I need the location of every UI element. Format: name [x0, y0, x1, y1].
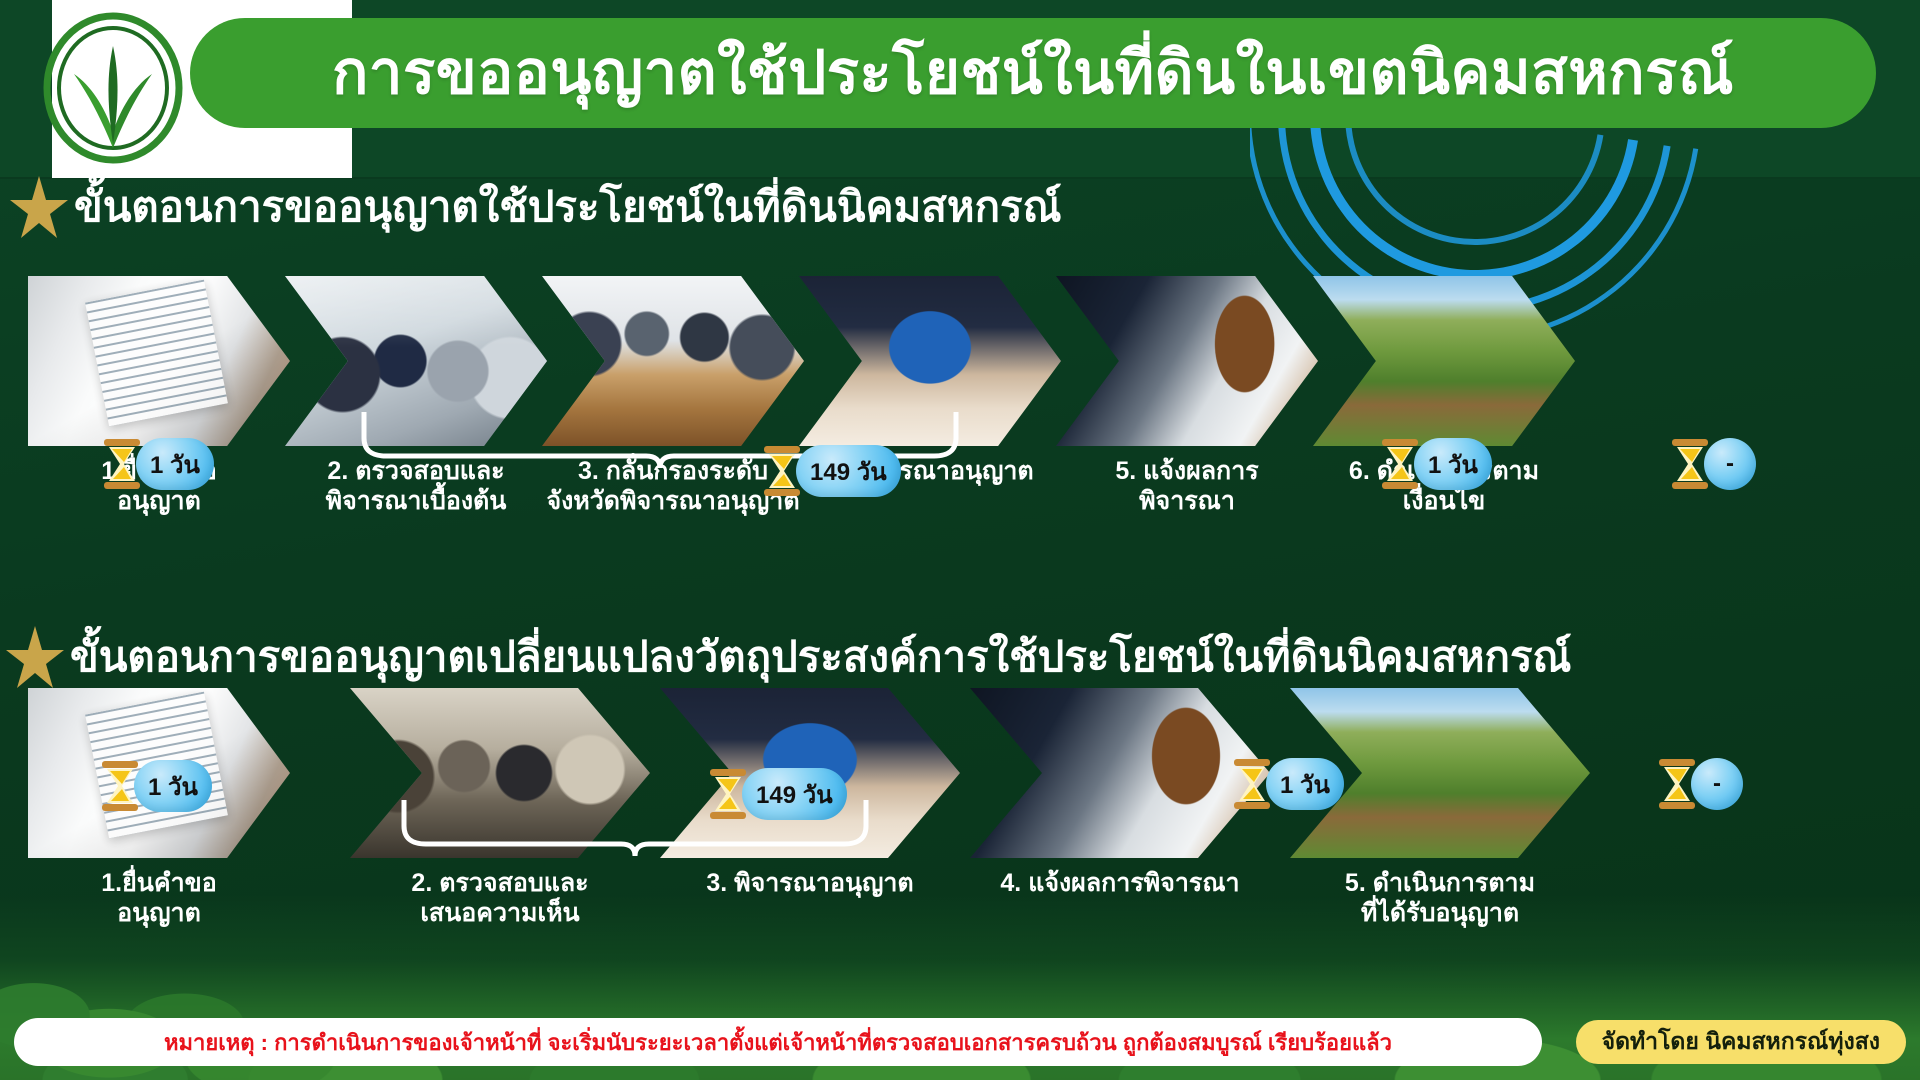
- step-photo: [350, 688, 650, 858]
- step-label: 2. ตรวจสอบและ พิจารณาเบื้องต้น: [285, 456, 547, 516]
- section-2-steps-row: 1.ยื่นคำขอ อนุญาต 2. ตรวจสอบและ เสนอความ…: [0, 688, 1920, 938]
- time-badge-value: -: [1691, 758, 1743, 810]
- page-title: การขออนุญาตใช้ประโยชน์ในที่ดินในเขตนิคมส…: [332, 43, 1734, 103]
- section-1-heading-group: ขั้นตอนการขออนุญาตใช้ประโยชน์ในที่ดินนิค…: [10, 176, 1062, 238]
- section-2-heading: ขั้นตอนการขออนุญาตเปลี่ยนแปลงวัตถุประสงค…: [70, 635, 1571, 679]
- section-1-heading: ขั้นตอนการขออนุญาตใช้ประโยชน์ในที่ดินนิค…: [74, 185, 1062, 229]
- time-badge-value: 1 วัน: [1266, 758, 1344, 810]
- footer-note-text: หมายเหตุ : การดำเนินการของเจ้าหน้าที่ จะ…: [164, 1025, 1392, 1060]
- step-label: 5. แจ้งผลการ พิจารณา: [1056, 456, 1318, 516]
- time-badge: 1 วัน: [98, 760, 212, 812]
- step-label: 2. ตรวจสอบและ เสนอความเห็น: [350, 868, 650, 928]
- step-photo: [970, 688, 1270, 858]
- step-label: 4. แจ้งผลการพิจารณา: [970, 868, 1270, 898]
- step-card[interactable]: 4. แจ้งผลการพิจารณา: [970, 688, 1270, 898]
- time-badge-value: 1 วัน: [136, 438, 214, 490]
- time-badge: -: [1655, 758, 1743, 810]
- time-badge: 1 วัน: [100, 438, 214, 490]
- time-badge-value: 149 วัน: [742, 768, 847, 820]
- credit-badge: จัดทำโดย นิคมสหกรณ์ทุ่งสง: [1576, 1020, 1906, 1064]
- step-label: 5. ดำเนินการตาม ที่ได้รับอนุญาต: [1290, 868, 1590, 928]
- time-badge-value: 1 วัน: [134, 760, 212, 812]
- step-label: 1.ยื่นคำขอ อนุญาต: [28, 868, 290, 928]
- time-badge-value: 1 วัน: [1414, 438, 1492, 490]
- footer-note: หมายเหตุ : การดำเนินการของเจ้าหน้าที่ จะ…: [14, 1018, 1542, 1066]
- step-photo: [799, 276, 1061, 446]
- section-2-heading-group: ขั้นตอนการขออนุญาตเปลี่ยนแปลงวัตถุประสงค…: [6, 626, 1571, 688]
- credit-text: จัดทำโดย นิคมสหกรณ์ทุ่งสง: [1602, 1024, 1880, 1060]
- time-badge-value: 149 วัน: [796, 445, 901, 497]
- page-title-pill: การขออนุญาตใช้ประโยชน์ในที่ดินในเขตนิคมส…: [190, 18, 1876, 128]
- step-photo: [1056, 276, 1318, 446]
- step-label: 3. พิจารณาอนุญาต: [660, 868, 960, 898]
- time-badge: -: [1668, 438, 1756, 490]
- page-header: การขออนุญาตใช้ประโยชน์ในที่ดินในเขตนิคมส…: [0, 0, 1920, 178]
- step-card[interactable]: 2. ตรวจสอบและ เสนอความเห็น: [350, 688, 650, 928]
- time-badge: 149 วัน: [760, 445, 901, 497]
- step-photo: [285, 276, 547, 446]
- step-photo: [1313, 276, 1575, 446]
- time-badge: 149 วัน: [706, 768, 847, 820]
- time-badge-value: -: [1704, 438, 1756, 490]
- time-badge: 1 วัน: [1378, 438, 1492, 490]
- star-icon: [10, 176, 68, 238]
- step-photo: [542, 276, 804, 446]
- step-card[interactable]: 2. ตรวจสอบและ พิจารณาเบื้องต้น: [285, 276, 547, 516]
- star-icon: [6, 626, 64, 688]
- time-badge: 1 วัน: [1230, 758, 1344, 810]
- step-photo: [28, 276, 290, 446]
- section-1-steps-row: 1.ยื่นคำขอ อนุญาต 2. ตรวจสอบและ พิจารณาเ…: [0, 276, 1920, 526]
- cooperative-leaf-logo-icon: [38, 12, 188, 164]
- step-card[interactable]: 5. แจ้งผลการ พิจารณา: [1056, 276, 1318, 516]
